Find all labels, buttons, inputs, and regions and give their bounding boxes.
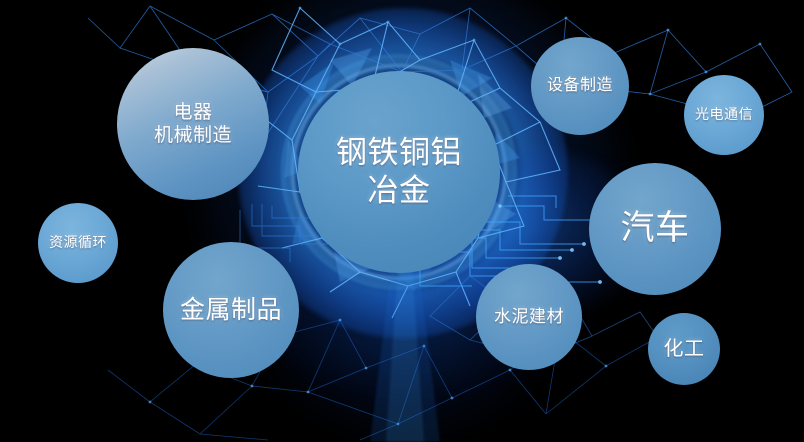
bubble-diagram-canvas: 钢铁铜铝冶金电器机械制造资源循环金属制品设备制造光电通信汽车水泥建材化工 — [0, 0, 804, 442]
bubble-electrical-machinery[interactable]: 电器机械制造 — [117, 48, 269, 200]
bubble-chemical-industry[interactable]: 化工 — [648, 313, 720, 385]
bubble-label-cement-building-materials: 水泥建材 — [488, 307, 570, 328]
bubble-label-metal-products: 金属制品 — [174, 295, 288, 326]
bubble-label-optoelectronic-communication: 光电通信 — [689, 106, 759, 123]
bubble-metal-products[interactable]: 金属制品 — [163, 242, 299, 378]
bubble-label-electrical-machinery: 电器机械制造 — [148, 101, 238, 147]
bubble-center[interactable]: 钢铁铜铝冶金 — [298, 71, 500, 273]
bubble-cement-building-materials[interactable]: 水泥建材 — [476, 264, 582, 370]
bubble-equipment-manufacturing[interactable]: 设备制造 — [531, 37, 629, 135]
bubble-label-automobile: 汽车 — [615, 208, 696, 249]
bubble-automobile[interactable]: 汽车 — [589, 163, 721, 295]
bubble-label-center: 钢铁铜铝冶金 — [330, 134, 468, 210]
bubble-label-resource-recycling: 资源循环 — [43, 234, 113, 251]
bubble-optoelectronic-communication[interactable]: 光电通信 — [684, 75, 764, 155]
bubble-label-equipment-manufacturing: 设备制造 — [541, 76, 619, 96]
bubble-label-chemical-industry: 化工 — [658, 337, 711, 361]
bubble-resource-recycling[interactable]: 资源循环 — [38, 203, 118, 283]
